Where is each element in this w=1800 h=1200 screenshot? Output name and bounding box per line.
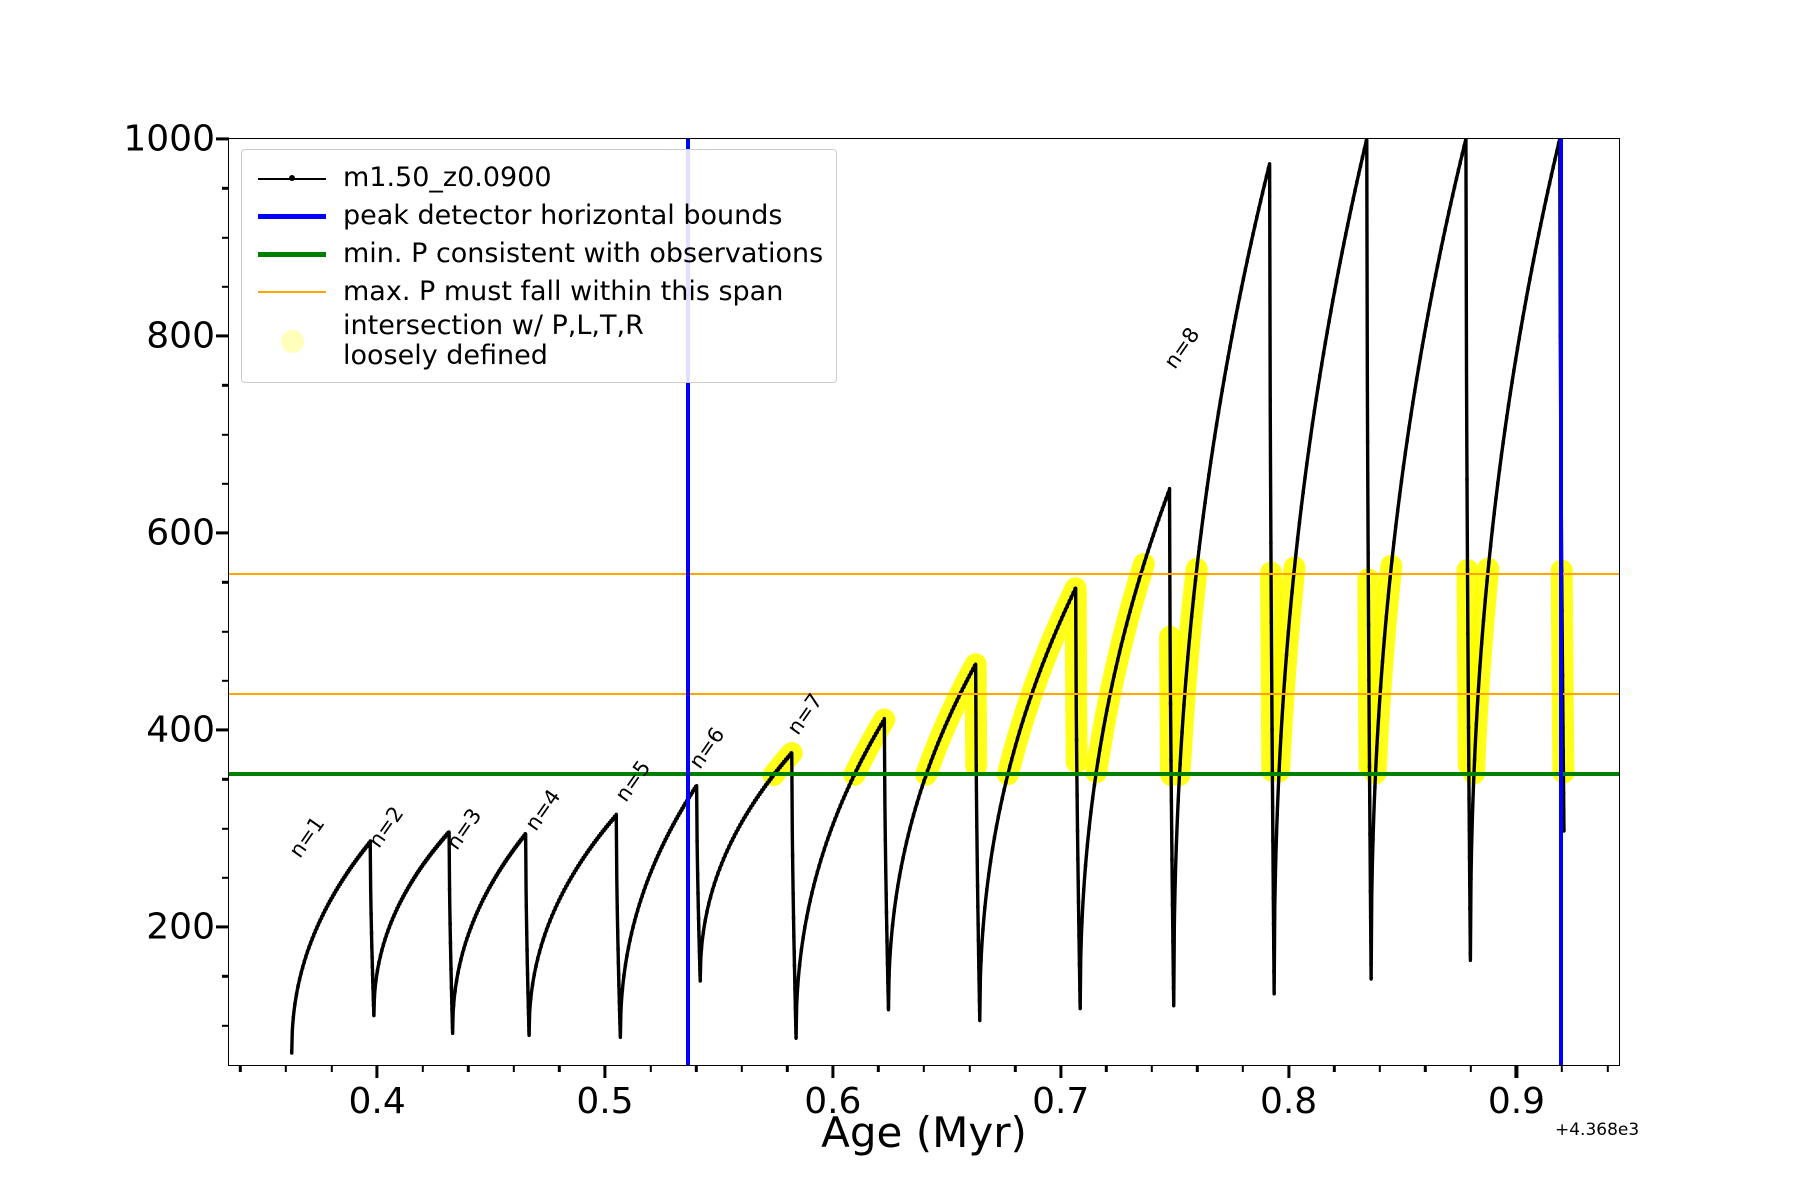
intersection-highlight-segment	[1096, 564, 1144, 772]
y-tick-mark-minor	[222, 384, 229, 386]
legend-label: min. P consistent with observations	[343, 239, 823, 269]
x-tick-mark-minor	[1151, 1065, 1153, 1072]
x-axis-offset-text: +4.368e3	[1555, 1120, 1639, 1140]
y-tick-mark-minor	[222, 827, 229, 829]
y-tick-mark-minor	[222, 483, 229, 485]
legend-label: m1.50_z0.0900	[343, 163, 552, 193]
min-period-line	[229, 772, 1619, 776]
x-tick-mark-minor	[786, 1065, 788, 1072]
x-tick-mark-minor	[741, 1065, 743, 1072]
intersection-highlight-segment	[1008, 588, 1077, 774]
y-tick-label: 200	[146, 907, 229, 948]
max-period-span-line	[229, 573, 1619, 575]
y-tick-mark-minor	[222, 187, 229, 189]
x-axis-label: Age (Myr)	[228, 1108, 1620, 1157]
y-tick-mark-minor	[222, 1024, 229, 1026]
x-tick-mark-minor	[1242, 1065, 1244, 1072]
x-tick-mark-minor	[1424, 1065, 1426, 1072]
x-tick-mark-minor	[1105, 1065, 1107, 1072]
y-tick-label: 1000	[123, 119, 229, 160]
x-tick-mark-minor	[1014, 1065, 1016, 1072]
legend-marker-dot-icon	[281, 330, 304, 353]
legend-key-line	[255, 291, 329, 293]
legend-key-line	[255, 214, 329, 219]
legend-line-icon	[258, 252, 326, 257]
x-tick-label: 0.5	[576, 1065, 633, 1122]
x-tick-label: 0.9	[1488, 1065, 1545, 1122]
x-tick-mark-minor	[1561, 1065, 1563, 1072]
y-tick-mark-minor	[222, 581, 229, 583]
figure-canvas: O1 period (days) Age (Myr) +4.368e3 2004…	[0, 0, 1800, 1200]
legend-label: max. P must fall within this span	[343, 277, 783, 307]
x-tick-mark-minor	[513, 1065, 515, 1072]
legend-item[interactable]: min. P consistent with observations	[255, 235, 823, 273]
x-tick-label: 0.7	[1032, 1065, 1089, 1122]
y-tick-mark-minor	[222, 680, 229, 682]
legend[interactable]: m1.50_z0.0900peak detector horizontal bo…	[241, 149, 837, 383]
x-tick-mark-minor	[467, 1065, 469, 1072]
plot-axes: 2004006008001000 0.40.50.60.70.80.9 n=1n…	[228, 138, 1620, 1066]
legend-item[interactable]: max. P must fall within this span	[255, 273, 823, 311]
x-tick-mark-minor	[968, 1065, 970, 1072]
legend-label: peak detector horizontal bounds	[343, 201, 782, 231]
x-tick-mark-minor	[285, 1065, 287, 1072]
y-tick-mark-minor	[222, 877, 229, 879]
x-tick-mark-minor	[695, 1065, 697, 1072]
x-tick-mark-minor	[1196, 1065, 1198, 1072]
x-tick-label: 0.8	[1260, 1065, 1317, 1122]
max-period-span-line	[229, 693, 1619, 695]
y-tick-mark-minor	[222, 286, 229, 288]
legend-key-line-marker	[255, 174, 329, 182]
x-tick-mark-minor	[330, 1065, 332, 1072]
y-tick-mark-minor	[222, 778, 229, 780]
x-tick-mark-minor	[877, 1065, 879, 1072]
x-tick-mark-minor	[1379, 1065, 1381, 1072]
x-tick-mark-minor	[1606, 1065, 1608, 1072]
x-tick-mark-minor	[421, 1065, 423, 1072]
legend-line-icon	[258, 291, 326, 293]
x-tick-label: 0.6	[804, 1065, 861, 1122]
y-tick-mark-minor	[222, 236, 229, 238]
y-tick-label: 600	[146, 513, 229, 554]
legend-key-line	[255, 252, 329, 257]
legend-item[interactable]: intersection w/ P,L,T,R loosely defined	[255, 311, 823, 371]
legend-key-dot	[255, 330, 329, 353]
x-tick-mark-minor	[649, 1065, 651, 1072]
x-tick-mark-minor	[1470, 1065, 1472, 1072]
x-tick-mark-minor	[239, 1065, 241, 1072]
x-tick-mark-minor	[1333, 1065, 1335, 1072]
legend-point-marker-icon	[289, 175, 295, 181]
x-tick-mark-minor	[923, 1065, 925, 1072]
legend-line-icon	[258, 214, 326, 219]
x-tick-mark-minor	[558, 1065, 560, 1072]
y-tick-label: 800	[146, 316, 229, 357]
legend-item[interactable]: peak detector horizontal bounds	[255, 197, 823, 235]
y-tick-mark-minor	[222, 975, 229, 977]
y-tick-label: 400	[146, 710, 229, 751]
legend-item[interactable]: m1.50_z0.0900	[255, 159, 823, 197]
legend-label: intersection w/ P,L,T,R loosely defined	[343, 311, 644, 371]
y-tick-mark-minor	[222, 630, 229, 632]
peak-detector-bound-line	[1559, 139, 1563, 1065]
y-tick-mark-minor	[222, 433, 229, 435]
x-tick-label: 0.4	[348, 1065, 405, 1122]
